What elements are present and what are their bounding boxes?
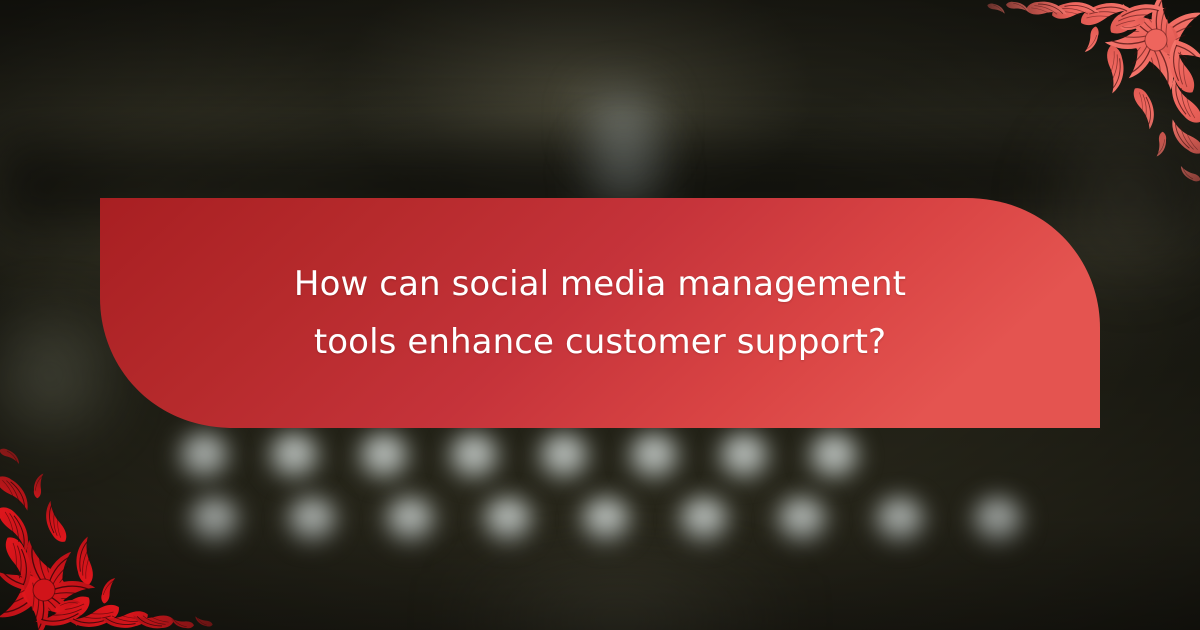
headline-banner: How can social media management tools en… [100,198,1100,428]
share-card: How can social media management tools en… [0,0,1200,630]
ornament-top-right [980,0,1200,200]
floral-damask-icon [980,0,1200,200]
floral-damask-icon [0,430,220,630]
banner-text-wrapper: How can social media management tools en… [100,198,1100,428]
page-title: How can social media management tools en… [250,255,950,372]
ornament-bottom-left [0,430,220,630]
